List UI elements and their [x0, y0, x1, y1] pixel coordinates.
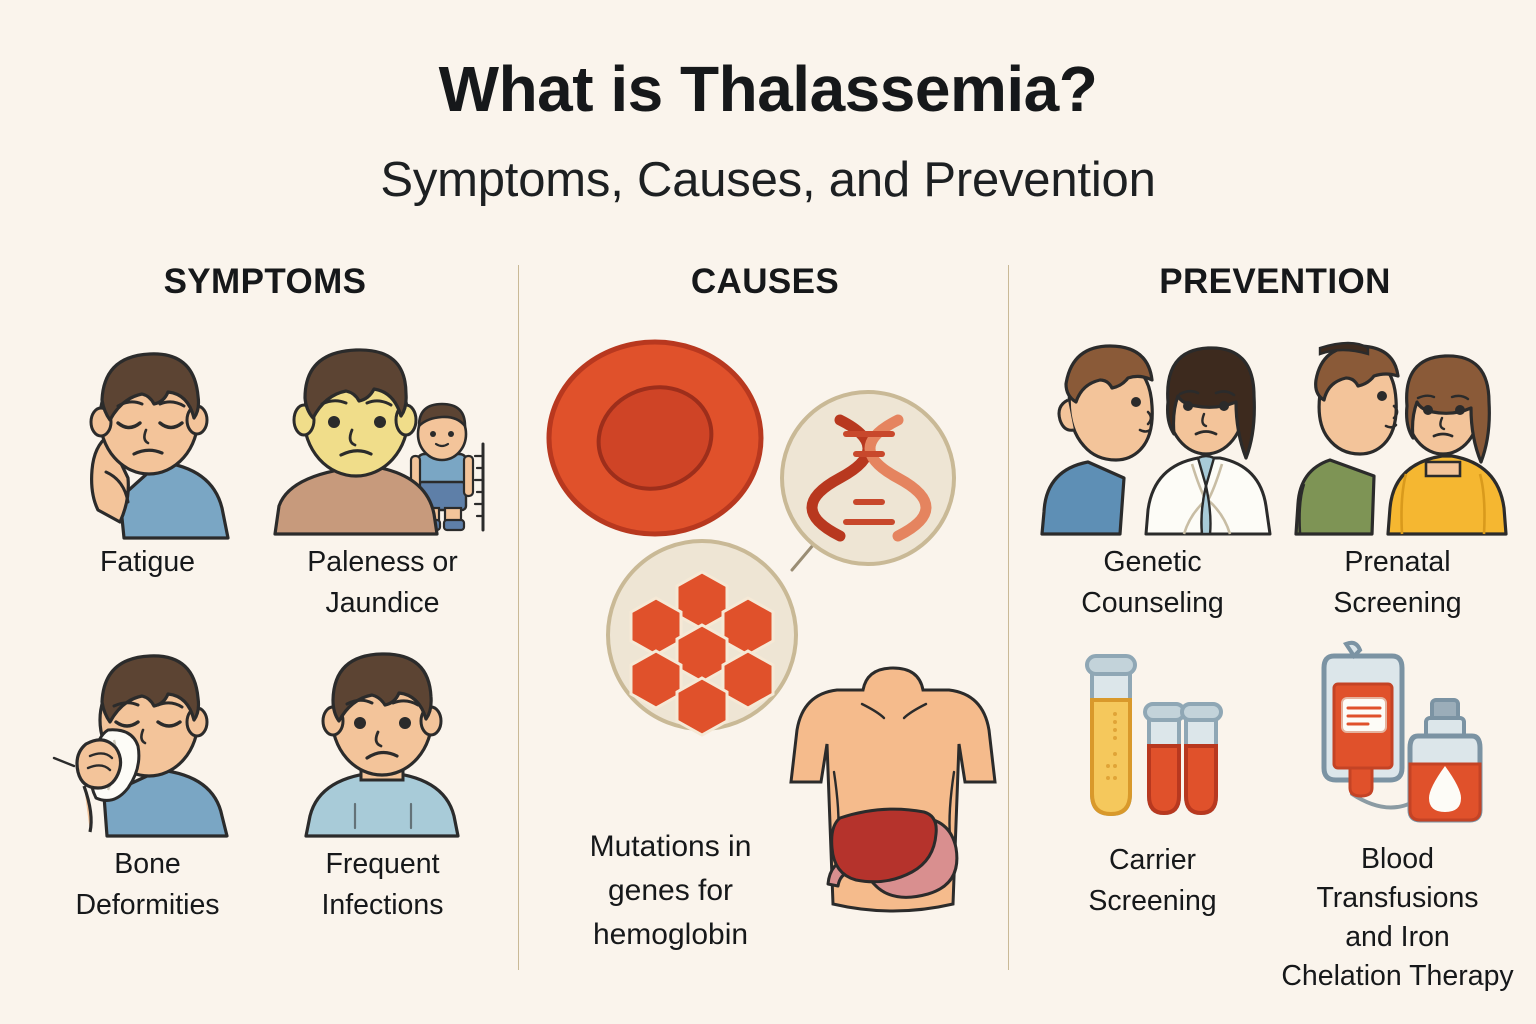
prevention-label-line1: Carrier [1109, 844, 1196, 876]
torso-liver-spleen-icon [791, 668, 995, 911]
column-heading-symptoms: SYMPTOMS [30, 262, 500, 302]
causes-label-line3: hemoglobin [593, 918, 748, 951]
symptom-item-fatigue: Fatigue [30, 344, 265, 624]
symptom-item-infections: Frequent Infections [265, 646, 500, 926]
hemoglobin-hexagons-icon [608, 541, 796, 735]
page-title: What is Thalassemia? [0, 52, 1536, 126]
column-heading-prevention: PREVENTION [1030, 262, 1520, 302]
prevention-label-line2: Screening [1088, 885, 1216, 917]
causes-caption: Mutations in genes for hemoglobin [558, 825, 783, 957]
prevention-label-line4: Chelation Therapy [1281, 960, 1513, 992]
red-blood-cell-icon [549, 342, 761, 534]
prevention-label-line1: Genetic [1103, 546, 1201, 578]
column-causes: CAUSES [540, 262, 990, 920]
symptom-label-line1: Bone [114, 848, 181, 880]
blood-bag-icon [1290, 642, 1505, 832]
prevention-item-carrier-screening: Carrier Screening [1030, 642, 1275, 996]
prevention-item-prenatal-screening: Prenatal Screening [1275, 344, 1520, 624]
jaundiced-person-with-growth-chart-icon [275, 344, 490, 534]
dna-helix-icon [782, 392, 954, 564]
tired-person-icon [48, 344, 248, 534]
column-heading-causes: CAUSES [540, 262, 990, 302]
prevention-label-line3: and Iron [1345, 921, 1450, 953]
symptom-label-line2: Infections [322, 889, 444, 921]
prevention-item-blood-transfusions: Blood Transfusions and Iron Chelation Th… [1275, 642, 1520, 996]
symptom-item-bone-deformities: Bone Deformities [30, 646, 265, 926]
symptom-item-jaundice: Paleness or Jaundice [265, 344, 500, 624]
page-subtitle: Symptoms, Causes, and Prevention [0, 152, 1536, 208]
column-symptoms: SYMPTOMS [30, 262, 500, 926]
couple-icon [1290, 344, 1505, 534]
prevention-label-line1: Blood [1361, 843, 1434, 875]
patient-and-doctor-icon [1040, 344, 1265, 534]
symptom-label-line1: Fatigue [100, 546, 195, 578]
prevention-label-line2: Counseling [1081, 587, 1224, 619]
prevention-label-line2: Screening [1333, 587, 1461, 619]
prevention-label-line2: Transfusions [1316, 882, 1478, 914]
symptom-label-line1: Frequent [325, 848, 439, 880]
divider-causes-prevention [1008, 265, 1009, 970]
divider-symptoms-causes [518, 265, 519, 970]
causes-label-line1: Mutations in [590, 830, 752, 863]
prevention-item-genetic-counseling: Genetic Counseling [1030, 344, 1275, 624]
symptom-label-line2: Jaundice [325, 587, 439, 619]
symptom-label-line1: Paleness or [307, 546, 458, 578]
infographic-page: What is Thalassemia? Symptoms, Causes, a… [0, 0, 1536, 1024]
test-tubes-icon [1058, 642, 1248, 832]
symptom-label-line2: Deformities [75, 889, 219, 921]
column-prevention: PREVENTION [1030, 262, 1520, 996]
causes-label-line2: genes for [608, 874, 733, 907]
sad-person-icon [275, 646, 490, 836]
prevention-label-line1: Prenatal [1344, 546, 1450, 578]
person-with-tissue-icon [48, 646, 248, 836]
